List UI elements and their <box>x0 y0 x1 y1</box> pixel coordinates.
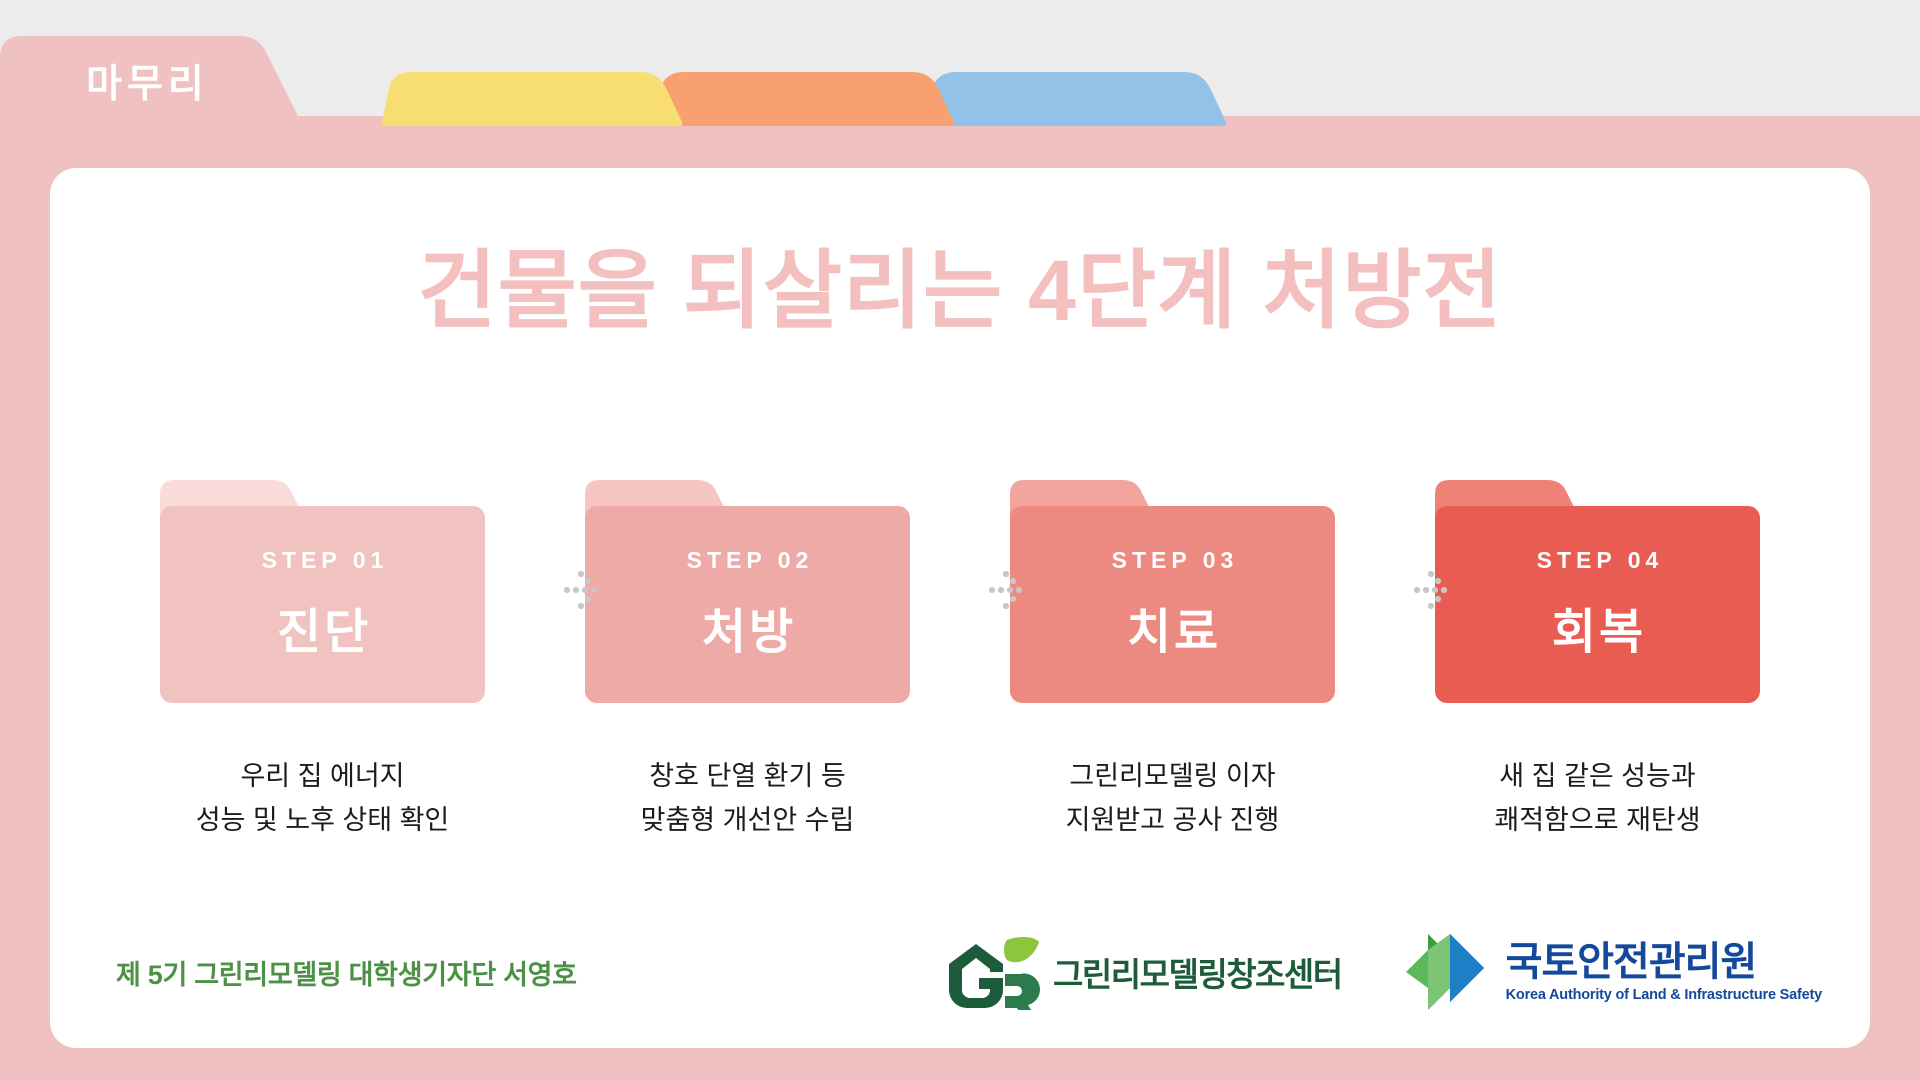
kalis-arrow-icon <box>1398 926 1494 1018</box>
step-caption-04: 새 집 같은 성능과 쾌적함으로 재탄생 <box>1435 755 1760 842</box>
step-caption-04-line2: 쾌적함으로 재탄생 <box>1435 799 1760 843</box>
step-caption-03-line2: 지원받고 공사 진행 <box>1010 799 1335 843</box>
tab-label-mamuri: 마무리 <box>0 36 290 126</box>
tab-shape-yellow <box>382 36 682 126</box>
step-number-04: STEP 04 <box>1532 547 1664 574</box>
folder-graphic-04: STEP 04 회복 <box>1435 458 1760 703</box>
tab-shape-blue <box>926 36 1226 126</box>
folder-text-02: STEP 02 처방 <box>585 506 910 703</box>
step-card-02[interactable]: STEP 02 처방 창호 단열 환기 등 맞춤형 개선안 수립 <box>585 458 910 842</box>
folder-graphic-02: STEP 02 처방 <box>585 458 910 703</box>
footer-credit: 제 5기 그린리모델링 대학생기자단 서영호 <box>116 953 577 992</box>
step-caption-02-line1: 창호 단열 환기 등 <box>585 755 910 799</box>
step-caption-01: 우리 집 에너지 성능 및 노후 상태 확인 <box>160 755 485 842</box>
tab-orange[interactable] <box>654 36 954 126</box>
dotted-arrow-right-icon-3 <box>1413 570 1459 610</box>
step-title-03: 치료 <box>1124 592 1221 662</box>
tab-shape-orange <box>654 36 954 126</box>
step-title-01: 진단 <box>274 592 371 662</box>
step-caption-04-line1: 새 집 같은 성능과 <box>1435 755 1760 799</box>
footer-logos: 그린리모델링창조센터 국토안전관리원 Korea Authority of La… <box>945 926 1822 1018</box>
dotted-arrow-right-icon-2 <box>988 570 1034 610</box>
folder-text-04: STEP 04 회복 <box>1435 506 1760 703</box>
tab-strip: 마무리 <box>0 36 1920 126</box>
step-card-04[interactable]: STEP 04 회복 새 집 같은 성능과 쾌적함으로 재탄생 <box>1435 458 1760 842</box>
step-card-03[interactable]: STEP 03 치료 그린리모델링 이자 지원받고 공사 진행 <box>1010 458 1335 842</box>
dotted-arrow-right-icon-1 <box>563 570 609 610</box>
step-number-01: STEP 01 <box>257 547 389 574</box>
gr-wordmark: 그린리모델링창조센터 <box>1053 948 1342 996</box>
step-caption-03-line1: 그린리모델링 이자 <box>1010 755 1335 799</box>
step-caption-01-line1: 우리 집 에너지 <box>160 755 485 799</box>
page-title: 건물을 되살리는 4단계 처방전 <box>50 220 1870 345</box>
step-caption-02: 창호 단열 환기 등 맞춤형 개선안 수립 <box>585 755 910 842</box>
folder-graphic-03: STEP 03 치료 <box>1010 458 1335 703</box>
step-title-02: 처방 <box>699 592 796 662</box>
step-number-02: STEP 02 <box>682 547 814 574</box>
step-caption-01-line2: 성능 및 노후 상태 확인 <box>160 799 485 843</box>
step-card-01[interactable]: STEP 01 진단 우리 집 에너지 성능 및 노후 상태 확인 <box>160 458 485 842</box>
tab-blue[interactable] <box>926 36 1226 126</box>
gr-leaf-icon <box>945 934 1041 1010</box>
folder-text-01: STEP 01 진단 <box>160 506 485 703</box>
step-caption-03: 그린리모델링 이자 지원받고 공사 진행 <box>1010 755 1335 842</box>
kalis-wordmark-kr: 국토안전관리원 <box>1506 942 1822 982</box>
kalis-wordmark-en: Korea Authority of Land & Infrastructure… <box>1506 988 1822 1003</box>
step-title-04: 회복 <box>1549 592 1646 662</box>
content-card: 건물을 되살리는 4단계 처방전 STEP 01 진단 우리 집 에너지 성능 <box>50 168 1870 1048</box>
kalis-logo: 국토안전관리원 Korea Authority of Land & Infras… <box>1398 926 1822 1018</box>
step-number-03: STEP 03 <box>1107 547 1239 574</box>
steps-row: STEP 01 진단 우리 집 에너지 성능 및 노후 상태 확인 <box>160 458 1760 928</box>
folder-graphic-01: STEP 01 진단 <box>160 458 485 703</box>
green-remodeling-creation-center-logo: 그린리모델링창조센터 <box>945 934 1342 1010</box>
tab-yellow[interactable] <box>382 36 682 126</box>
folder-text-03: STEP 03 치료 <box>1010 506 1335 703</box>
slide-root: 마무리 건물을 되살리는 4단계 처방전 <box>0 0 1920 1080</box>
kalis-wordmark: 국토안전관리원 Korea Authority of Land & Infras… <box>1506 942 1822 1003</box>
tab-mamuri[interactable]: 마무리 <box>0 36 400 126</box>
step-caption-02-line2: 맞춤형 개선안 수립 <box>585 799 910 843</box>
